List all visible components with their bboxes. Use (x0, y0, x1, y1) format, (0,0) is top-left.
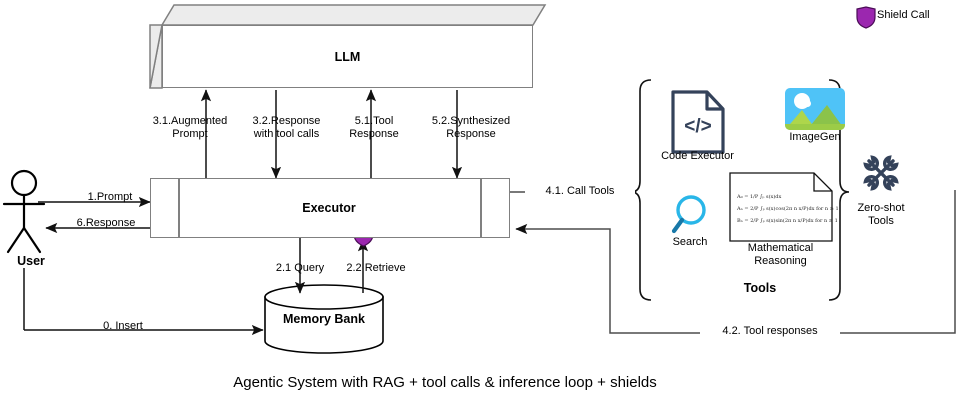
tool-zero-shot[interactable]: Zero-shot Tools (835, 140, 927, 228)
code-document-icon (645, 88, 750, 150)
executor-label: Executor (302, 201, 356, 215)
llm-label: LLM (335, 50, 361, 64)
executor-node[interactable]: Executor (150, 178, 510, 238)
executor-label-wrap: Executor (178, 178, 480, 238)
tool-zero-shot-label: Zero-shot Tools (835, 202, 927, 228)
edge-label-tool-response: 5.1.Tool Response (335, 115, 413, 141)
edge-label-synthesized-response: 5.2.Synthesized Response (417, 115, 525, 141)
memory-bank-label-wrap: Memory Bank (265, 285, 383, 353)
memory-bank-label: Memory Bank (283, 312, 365, 326)
crossed-wrenches-icon (835, 140, 927, 202)
diagram-canvas: </> A₀ = 1/P ∫ₚ s(x)dx Aₙ = 2/P ∫ (0, 0, 970, 411)
edge-label-response-tool-calls: 3.2.Response with tool calls (234, 115, 339, 141)
tools-group-label: Tools (700, 282, 820, 295)
image-thumbnail-icon (760, 85, 870, 131)
edge-label-insert: 0. Insert (58, 320, 188, 333)
llm-node[interactable]: LLM (150, 5, 545, 90)
edge-label-tool-responses: 4.2. Tool responses (700, 325, 840, 338)
executor-right-gutter-divider (480, 178, 482, 238)
user-label: User (0, 255, 62, 268)
formula-document-icon (718, 170, 843, 242)
edge-label-retrieve: 2.2 Retrieve (333, 262, 419, 275)
memory-bank-node[interactable]: Memory Bank (265, 285, 383, 353)
legend: Shield Call (855, 5, 967, 27)
edge-label-augmented-prompt: 3.1.Augmented Prompt (140, 115, 240, 141)
edge-label-prompt: 1.Prompt (60, 191, 160, 204)
tool-mathematical-reasoning[interactable]: Mathematical Reasoning (718, 170, 843, 268)
edge-label-query: 2.1 Query (263, 262, 337, 275)
diagram-caption: Agentic System with RAG + tool calls & i… (0, 374, 890, 391)
tool-code-executor-label: Code Executor (645, 150, 750, 163)
tool-imagegen[interactable]: ImageGen (760, 85, 870, 144)
user-stick-figure (4, 171, 44, 252)
llm-box-front: LLM (162, 25, 533, 88)
tool-code-executor[interactable]: Code Executor (645, 88, 750, 163)
legend-label: Shield Call (877, 9, 930, 21)
edge-label-response: 6.Response (54, 217, 158, 230)
edge-label-call-tools: 4.1. Call Tools (525, 185, 635, 198)
tool-mathematical-reasoning-label: Mathematical Reasoning (718, 242, 843, 268)
